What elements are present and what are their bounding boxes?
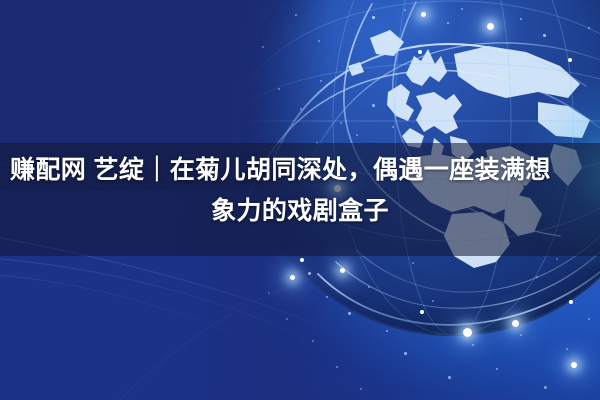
network-node — [569, 300, 573, 304]
headline-line-1: 赚配网 艺绽｜在菊儿胡同深处，偶遇一座装满想 — [0, 150, 600, 191]
network-node — [420, 310, 424, 314]
page-title: 赚配网 艺绽｜在菊儿胡同深处，偶遇一座装满想 象力的戏剧盒子 — [0, 150, 600, 232]
banner-image: 赚配网 艺绽｜在菊儿胡同深处，偶遇一座装满想 象力的戏剧盒子 — [0, 0, 600, 400]
particle — [472, 344, 474, 346]
particle — [448, 376, 451, 379]
network-node — [487, 23, 494, 30]
particle — [300, 108, 302, 110]
network-node — [300, 258, 304, 262]
particle — [268, 292, 270, 294]
particle — [320, 80, 322, 82]
particle — [368, 286, 370, 288]
particle — [520, 18, 522, 20]
particle — [404, 352, 407, 355]
particle — [295, 14, 297, 16]
particle — [461, 8, 463, 10]
particle — [262, 46, 264, 48]
particle — [360, 388, 362, 390]
network-node — [290, 275, 295, 280]
particle — [520, 334, 522, 336]
particle — [336, 366, 338, 368]
particle — [348, 312, 351, 315]
particle — [312, 340, 314, 342]
particle — [496, 368, 498, 370]
headline-line-2: 象力的戏剧盒子 — [0, 191, 600, 232]
particle — [432, 300, 434, 302]
particle — [286, 318, 288, 320]
particle — [326, 296, 328, 298]
network-node — [568, 58, 572, 62]
network-node — [571, 362, 577, 368]
particle — [566, 348, 568, 350]
particle — [392, 126, 394, 128]
network-node — [340, 268, 345, 273]
particle — [556, 258, 558, 260]
particle — [544, 386, 547, 389]
network-node — [418, 50, 422, 54]
particle — [356, 134, 358, 136]
particle — [536, 276, 538, 278]
particle — [355, 68, 358, 71]
particle — [318, 40, 320, 42]
network-node — [463, 328, 472, 337]
particle — [588, 27, 590, 29]
network-node — [512, 320, 519, 327]
particle — [386, 330, 388, 332]
particle — [447, 22, 449, 24]
particle — [588, 318, 590, 320]
particle — [543, 34, 546, 37]
particle — [308, 272, 311, 275]
particle — [340, 122, 342, 124]
particle — [404, 9, 406, 11]
particle — [372, 16, 375, 19]
particle — [372, 104, 375, 107]
particle — [389, 30, 391, 32]
particle — [278, 88, 280, 90]
network-node — [421, 12, 426, 17]
particle — [412, 262, 414, 264]
